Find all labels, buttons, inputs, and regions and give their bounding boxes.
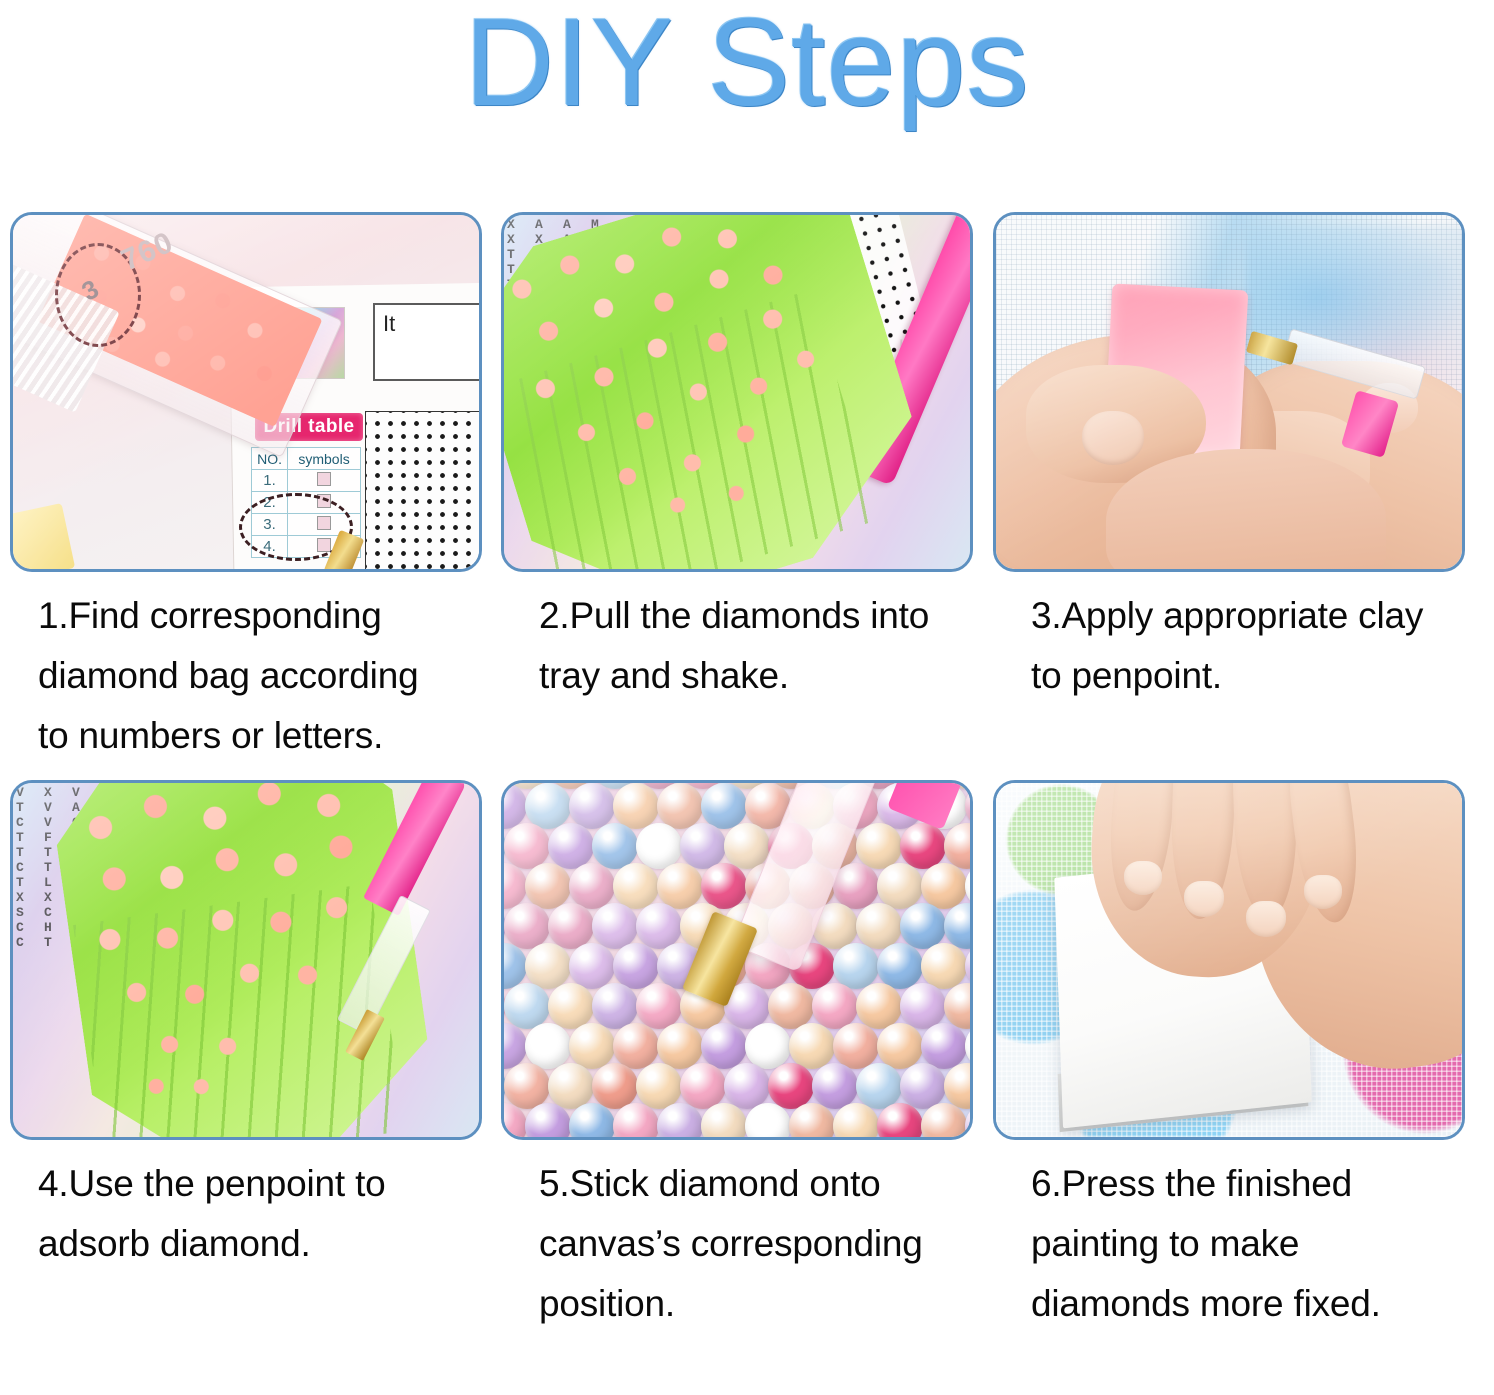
dotted-pegboard xyxy=(365,411,479,569)
drill-table-header-symbols: symbols xyxy=(288,448,361,470)
step-caption-3: 3.Apply appropriate clay to penpoint. xyxy=(993,586,1466,706)
drill-row-symbol xyxy=(288,470,361,492)
step-card-1: It Drill table NO. symbols 1. 2. xyxy=(10,212,489,766)
step-card-2: X A A M X X A A M T Y T T T Y T X T T Y … xyxy=(489,212,984,766)
step-caption-6: 6.Press the finished painting to make di… xyxy=(993,1154,1466,1334)
drill-row-number: 1. xyxy=(252,470,288,492)
step-card-6: 6.Press the finished painting to make di… xyxy=(984,780,1466,1334)
it-label-box: It xyxy=(373,303,479,381)
step-card-3: 3.Apply appropriate clay to penpoint. xyxy=(984,212,1466,766)
table-row: 1. xyxy=(252,470,361,492)
step-caption-5: 5.Stick diamond onto canvas’s correspond… xyxy=(501,1154,984,1334)
green-tray-with-diamonds-photo: X A A M X X A A M T Y T T T Y T X T T Y … xyxy=(501,212,973,572)
penpoint-adsorbing-diamond-photo: V X V A T Y L L C T V A A J V T V L L C … xyxy=(10,780,482,1140)
clay-on-penpoint-photo xyxy=(993,212,1465,572)
step-caption-1: 1.Find corresponding diamond bag accordi… xyxy=(10,586,489,766)
page-title: DIY Steps xyxy=(0,0,1494,133)
sticking-diamond-on-canvas-photo xyxy=(501,780,973,1140)
diamond-bag-and-drill-table-photo: It Drill table NO. symbols 1. 2. xyxy=(10,212,482,572)
steps-grid: It Drill table NO. symbols 1. 2. xyxy=(10,212,1484,1334)
symbol-icon xyxy=(317,472,331,486)
step-caption-4: 4.Use the penpoint to adsorb diamond. xyxy=(10,1154,489,1274)
left-fingernail xyxy=(1082,411,1144,465)
step-card-5: 5.Stick diamond onto canvas’s correspond… xyxy=(489,780,984,1334)
pressing-finished-painting-photo xyxy=(993,780,1465,1140)
step-card-4: V X V A T Y L L C T V A A J V T V L L C … xyxy=(10,780,489,1334)
diy-steps-infographic: DIY Steps It Drill table NO. symbols xyxy=(0,0,1494,1395)
pink-diamonds xyxy=(64,783,425,1120)
step-caption-2: 2.Pull the diamonds into tray and shake. xyxy=(501,586,984,706)
